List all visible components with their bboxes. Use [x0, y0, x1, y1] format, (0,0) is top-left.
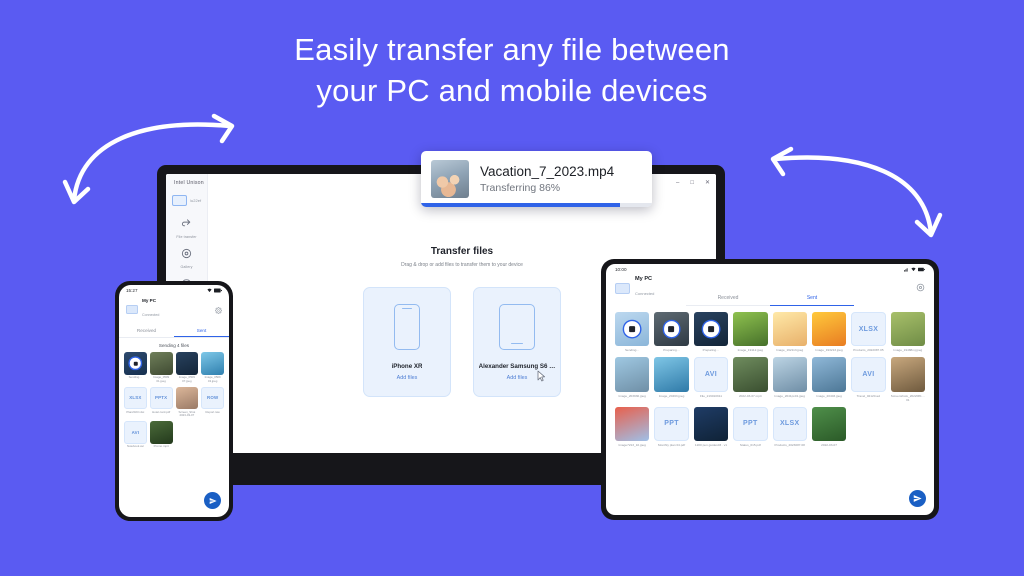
tablet-device: 10:00 My PC Connected Received [601, 259, 939, 520]
file-tile[interactable]: 1200 pen guides03 . v1 [694, 407, 728, 447]
transfer-progress-icon [703, 321, 719, 337]
file-label: Image_20403.jpeg [812, 394, 846, 398]
wifi-icon [911, 267, 916, 273]
image-thumbnail [812, 312, 846, 346]
phone-status-bar: 15:27 [119, 285, 229, 296]
file-label: Image_193213.jpeg [812, 348, 846, 352]
image-thumbnail [694, 312, 728, 346]
phone-file-grid: Sending…Image_0509 01.jpegImage_0509 07.… [119, 352, 229, 449]
popup-filename: Vacation_7_2023.mp4 [480, 164, 640, 180]
phone-section-title: Sending 4 files [119, 338, 229, 352]
file-label: Hotel card.pdf [150, 411, 173, 415]
file-tile[interactable]: Screen_Shot 2023-03-07 [176, 387, 199, 419]
file-label: Promo.mp4 [150, 445, 173, 449]
progress-bar-track [421, 203, 652, 207]
image-thumbnail [150, 421, 173, 444]
file-label: Image_0509 01.jpeg [150, 376, 173, 383]
image-thumbnail [150, 352, 173, 375]
image-thumbnail [201, 352, 224, 375]
file-tile[interactable]: Image_19112.jpeg [733, 312, 767, 352]
file-tile[interactable]: Image7213_10.jpeg [615, 407, 649, 447]
tab-received[interactable]: Received [686, 295, 770, 306]
tablet-outline-icon [499, 304, 535, 350]
file-label: Image_19112.jpeg [733, 348, 767, 352]
file-tile[interactable]: Preparing… [654, 312, 688, 352]
file-tile[interactable]: Image_0509 01.jpeg [150, 352, 173, 384]
document-thumbnail: XLSX [851, 312, 885, 346]
device-card-samsung[interactable]: Alexander Samsung S6 … Add files [473, 287, 561, 397]
file-transfer-icon [181, 216, 192, 234]
file-tile[interactable]: 2022-03-07.mp4 [733, 357, 767, 401]
image-thumbnail [694, 407, 728, 441]
tablet-file-grid: Sending…Preparing…Preparing…Image_19112.… [606, 305, 934, 447]
file-label: Sending… [615, 348, 649, 352]
file-tile[interactable]: Preparing… [694, 312, 728, 352]
file-label: 2022-03-07 [812, 443, 846, 447]
image-thumbnail [812, 407, 846, 441]
add-files-link[interactable]: Add files [397, 375, 418, 381]
tab-sent[interactable]: Sent [174, 325, 229, 337]
file-label: Image_19488mj.jpeg [891, 348, 925, 352]
file-tile[interactable]: 2022-03-07 [812, 407, 846, 447]
file-tile[interactable]: Image_19488mj.jpeg [891, 312, 925, 352]
gear-icon[interactable] [916, 279, 925, 297]
phone-connection-header[interactable]: My PC Connected [119, 296, 229, 325]
image-thumbnail [654, 312, 688, 346]
phone-clock: 15:27 [126, 288, 138, 293]
file-label: Screenshots_2022081…01 [891, 394, 925, 402]
file-label: Notebook.avi [124, 445, 147, 449]
phone-tabs: Received Sent [119, 325, 229, 338]
file-tile[interactable]: Image_0509 07.jpeg [176, 352, 199, 384]
file-tile[interactable]: Image_20403.jpeg [812, 357, 846, 401]
gear-icon[interactable] [215, 301, 222, 319]
file-label: Monthly plan 04.pdf [654, 443, 688, 447]
file-tile[interactable]: PPTStatus_015.pdf [733, 407, 767, 447]
maximize-icon[interactable]: □ [690, 180, 694, 186]
tab-received[interactable]: Received [119, 325, 174, 337]
monitor-icon [615, 283, 630, 294]
file-label: Image_0509 07.jpeg [176, 376, 199, 383]
file-label: Preparing… [654, 348, 688, 352]
file-tile[interactable]: XLSXProducts_2023087.08 [773, 407, 807, 447]
curved-arrow-right-icon [758, 145, 943, 245]
image-thumbnail [733, 357, 767, 391]
file-tile[interactable]: AVITravel_02120.avi [851, 357, 885, 401]
transfer-files-title: Transfer files [431, 246, 493, 257]
monitor-icon [172, 195, 187, 206]
file-label: File_219010911 [694, 394, 728, 398]
file-label: Screen_Shot 2023-03-07 [176, 411, 199, 418]
image-thumbnail [773, 357, 807, 391]
file-thumbnail [431, 160, 469, 198]
file-label: Plan2023.xlsx [124, 411, 147, 415]
image-thumbnail [733, 312, 767, 346]
sidebar-label-gallery: Gallery [180, 265, 192, 269]
file-tile[interactable]: AVIFile_219010911 [694, 357, 728, 401]
file-tile[interactable]: Sending… [615, 312, 649, 352]
popup-status: Transferring 86% [480, 182, 640, 194]
image-thumbnail [891, 357, 925, 391]
progress-bar-fill [421, 203, 620, 207]
device-card-iphone[interactable]: iPhone XR Add files [363, 287, 451, 397]
file-label: Image_2041pv01.jpeg [773, 394, 807, 398]
connected-pc-name: My PC [142, 298, 159, 303]
file-tile[interactable]: PPTMonthly plan 04.pdf [654, 407, 688, 447]
phone-device: 15:27 My PC Connected Received Sen [115, 281, 233, 521]
file-tile[interactable]: Image_2041pv01.jpeg [773, 357, 807, 401]
image-thumbnail [176, 387, 199, 410]
sidebar-item-gallery[interactable]: Gallery [166, 246, 207, 269]
app-title: Intel Unison [174, 180, 204, 186]
file-label: 1200 pen guides03 . v1 [694, 443, 728, 447]
file-tile[interactable]: Image_20463.jpeg [654, 357, 688, 401]
wifi-icon [207, 288, 212, 294]
file-tile[interactable]: Image_193213.jpeg [812, 312, 846, 352]
device-card-name: iPhone XR [392, 363, 423, 370]
tablet-screen: 10:00 My PC Connected Received [606, 264, 934, 515]
file-tile[interactable]: PPTXHotel card.pdf [150, 387, 173, 419]
device-card-name: Alexander Samsung S6 … [479, 363, 556, 370]
monitor-icon [126, 305, 138, 314]
file-tile[interactable]: Screenshots_2022081…01 [891, 357, 925, 401]
image-thumbnail [812, 357, 846, 391]
connected-pc-name: My PC [635, 276, 654, 282]
transfer-progress-icon [624, 321, 640, 337]
file-label: Sending… [124, 376, 147, 380]
page-title: Easily transfer any file between your PC… [0, 30, 1024, 112]
image-thumbnail [176, 352, 199, 375]
image-thumbnail [615, 357, 649, 391]
signal-icon [904, 267, 909, 273]
document-thumbnail: XLSX [124, 387, 147, 410]
document-thumbnail: XLSX [773, 407, 807, 441]
file-tile[interactable]: Sending… [124, 352, 147, 384]
file-tile[interactable]: AVINotebook.avi [124, 421, 147, 449]
file-tile[interactable]: Promo.mp4 [150, 421, 173, 449]
file-label: Report.raw [201, 411, 224, 415]
document-thumbnail: AVI [124, 421, 147, 444]
image-thumbnail [773, 312, 807, 346]
image-thumbnail [615, 312, 649, 346]
connection-state: Connected [635, 291, 654, 296]
file-label: 2022-03-07.mp4 [733, 394, 767, 398]
gallery-icon [181, 246, 192, 264]
battery-icon [918, 267, 925, 273]
document-thumbnail: AVI [851, 357, 885, 391]
sidebar-label-file-transfer: File transfer [176, 235, 196, 239]
phone-screen: 15:27 My PC Connected Received Sen [119, 285, 229, 517]
document-thumbnail: PPT [654, 407, 688, 441]
tablet-status-bar: 10:00 [606, 264, 934, 275]
file-tile[interactable]: XLSXProducts_2022087.05 [851, 312, 885, 352]
file-tile[interactable]: ROWReport.raw [201, 387, 224, 419]
minimize-icon[interactable]: – [676, 180, 679, 186]
file-label: Preparing… [694, 348, 728, 352]
image-thumbnail [124, 352, 147, 375]
file-label: Image_203930.jpeg [615, 394, 649, 398]
tab-sent[interactable]: Sent [770, 295, 854, 306]
image-thumbnail [615, 407, 649, 441]
headline-line-1: Easily transfer any file between [294, 32, 729, 67]
file-tile[interactable]: Image_0509 43.jpeg [201, 352, 224, 384]
document-thumbnail: PPTX [150, 387, 173, 410]
add-files-link[interactable]: Add files [507, 375, 528, 381]
file-label: Products_2023087.08 [773, 443, 807, 447]
headline-line-2: your PC and mobile devices [0, 71, 1024, 112]
phone-outline-icon [394, 304, 420, 350]
document-thumbnail: ROW [201, 387, 224, 410]
file-label: Image_192113.jpeg [773, 348, 807, 352]
document-thumbnail: PPT [733, 407, 767, 441]
tablet-clock: 10:00 [615, 267, 627, 272]
tablet-connection-header[interactable]: My PC Connected Received Sent [606, 275, 934, 305]
transfer-files-subtitle: Drag & drop or add files to transfer the… [401, 262, 523, 268]
file-label: Travel_02120.avi [851, 394, 885, 398]
file-label: Image_0509 43.jpeg [201, 376, 224, 383]
connection-state: Connected [142, 313, 159, 317]
mouse-cursor-icon [537, 370, 546, 382]
file-tile[interactable]: Image_192113.jpeg [773, 312, 807, 352]
tablet-tabs: Received Sent [686, 295, 854, 306]
transfer-progress-icon [130, 358, 140, 368]
transfer-progress-icon [664, 321, 680, 337]
sidebar-item-file-transfer[interactable]: File transfer [166, 216, 207, 239]
file-label: Image_20463.jpeg [654, 394, 688, 398]
image-thumbnail [891, 312, 925, 346]
send-fab-button[interactable] [909, 490, 926, 507]
transfer-notification-popup[interactable]: Vacation_7_2023.mp4 Transferring 86% [421, 151, 652, 207]
send-fab-button[interactable] [204, 492, 221, 509]
document-thumbnail: AVI [694, 357, 728, 391]
file-tile[interactable]: Image_203930.jpeg [615, 357, 649, 401]
file-label: Products_2022087.05 [851, 348, 885, 352]
device-card-row: iPhone XR Add files Alexander Samsung S6… [363, 287, 561, 397]
image-thumbnail [654, 357, 688, 391]
battery-icon [214, 288, 222, 294]
file-tile[interactable]: XLSXPlan2023.xlsx [124, 387, 147, 419]
file-label: Status_015.pdf [733, 443, 767, 447]
sidebar-item-device[interactable]: \u22ef [172, 195, 201, 206]
file-label: Image7213_10.jpeg [615, 443, 649, 447]
close-icon[interactable]: ✕ [705, 180, 710, 186]
